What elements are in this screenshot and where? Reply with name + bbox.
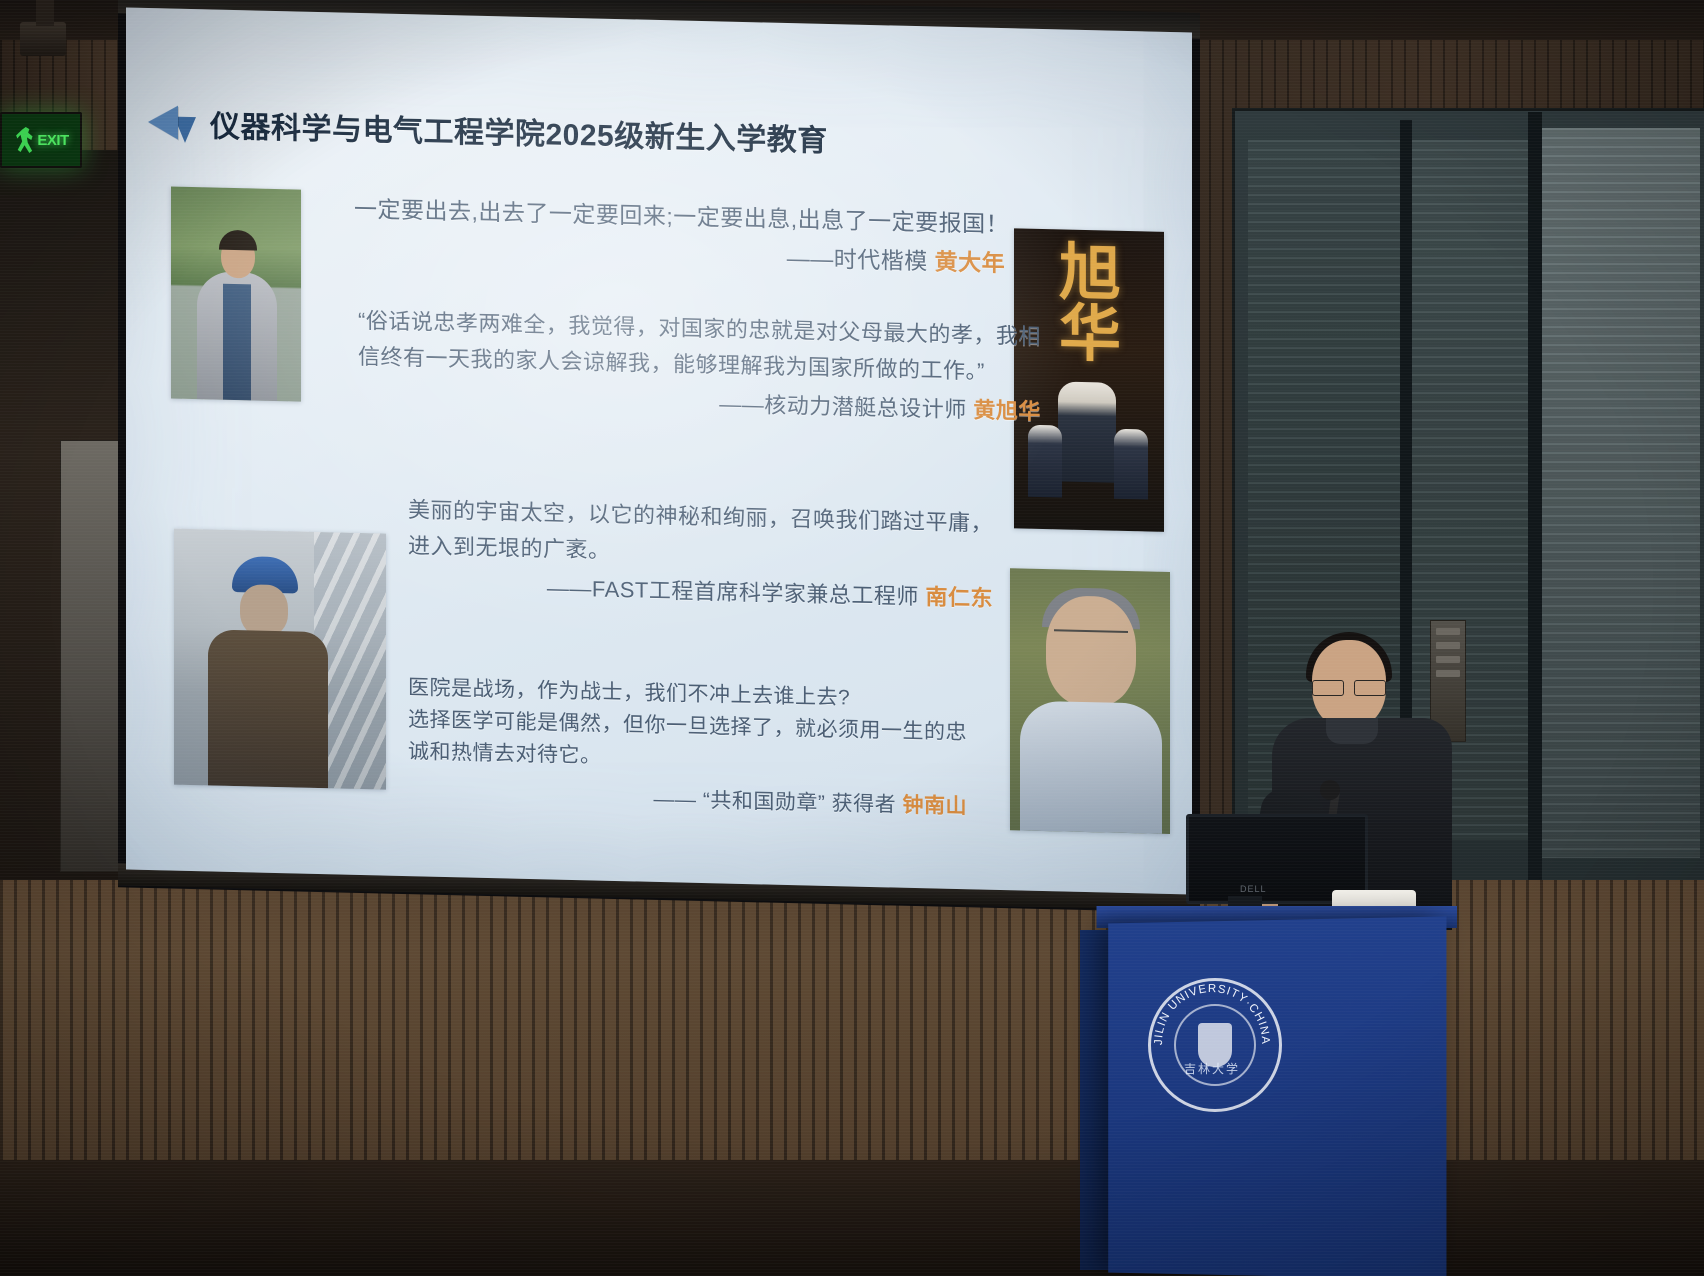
quote-attribution: —— “共和国勋章” 获得者 钟南山 [408, 778, 967, 823]
quote-line: 医院是战场，作为战士，我们不冲上去谁上去? [408, 676, 850, 709]
portrait-zhong-nanshan [1010, 568, 1170, 834]
exit-sign-label: EXIT [37, 132, 68, 149]
left-wall-panel [60, 440, 124, 872]
attribution-name: 黄旭华 [973, 398, 1041, 425]
exit-sign: EXIT [0, 112, 82, 168]
window-blind-right [1540, 128, 1700, 858]
quote-zhong-nanshan: 医院是战场，作为战士，我们不冲上去谁上去? 选择医学可能是偶然，但你一旦选择了，… [408, 672, 967, 823]
attribution-prefix: ——FAST工程首席科学家兼总工程师 [547, 576, 919, 610]
seal-cn-label: 吉林大学 [1148, 1060, 1276, 1077]
quote-nan-rendong: 美丽的宇宙太空，以它的神秘和绚丽，召唤我们踏过平庸， 进入到无垠的广袤。 ——F… [408, 492, 993, 617]
attribution-prefix: ——时代楷模 [787, 245, 928, 274]
quote-line: “俗话说忠孝两难全，我觉得，对国家的忠就是对父母最大的孝，我相 [358, 308, 1041, 349]
portrait-caption-xuhua: 旭华 [1044, 243, 1136, 395]
attribution-prefix: ——核动力潜艇总设计师 [719, 392, 967, 423]
presentation-slide: 仪器科学与电气工程学院2025级新生入学教育 旭华 一定要出去,出去了一定要回来… [126, 7, 1192, 894]
attribution-name: 钟南山 [903, 793, 968, 818]
quote-line: 美丽的宇宙太空，以它的神秘和绚丽，召唤我们踏过平庸， [408, 497, 993, 536]
seal-arc-text: JILIN UNIVERSITY·CHINA [1148, 978, 1276, 1106]
attribution-prefix: —— “共和国勋章” 获得者 [654, 788, 897, 817]
ceiling-vent-duct [36, 0, 54, 26]
presenter-collar [1326, 718, 1378, 744]
projection-screen: 仪器科学与电气工程学院2025级新生入学教育 旭华 一定要出去,出去了一定要回来… [126, 7, 1192, 894]
monitor-brand-label: DELL [1240, 884, 1267, 894]
slide-title-row: 仪器科学与电气工程学院2025级新生入学教育 [148, 100, 828, 160]
quote-line: 进入到无垠的广袤。 [408, 533, 611, 563]
ceiling-vent [20, 22, 66, 56]
quote-attribution: ——核动力潜艇总设计师 黄旭华 [358, 378, 1041, 430]
floor [0, 1160, 1704, 1276]
quote-line: 选择医学可能是偶然，但你一旦选择了，就必须用一生的忠 [408, 708, 967, 744]
window-mullion-2 [1528, 112, 1542, 932]
portrait-nan-rendong [174, 529, 386, 790]
slide-title: 仪器科学与电气工程学院2025级新生入学教育 [210, 101, 828, 160]
triangle-marker-icon [148, 105, 178, 140]
svg-text:JILIN UNIVERSITY·CHINA: JILIN UNIVERSITY·CHINA [1153, 983, 1271, 1045]
quote-line: 诚和热情去对待它。 [408, 740, 602, 768]
attribution-name: 黄大年 [935, 249, 1006, 277]
quote-line: 信终有一天我的家人会谅解我，能够理解我为国家所做的工作。” [358, 344, 985, 384]
portrait-huang-danian [171, 186, 301, 401]
running-man-icon [15, 127, 35, 153]
attribution-name: 南仁东 [926, 585, 994, 612]
quote-attribution: ——FAST工程首席科学家兼总工程师 南仁东 [408, 567, 993, 616]
quote-attribution: ——时代楷模 黄大年 [354, 230, 1009, 283]
glasses-icon [1312, 680, 1386, 694]
quote-huang-danian: 一定要出去,出去了一定要回来;一定要出息,出息了一定要报国！ ——时代楷模 黄大… [354, 191, 1009, 283]
microphone-head-icon [1320, 780, 1340, 800]
quote-line: 一定要出去,出去了一定要回来;一定要出息,出息了一定要报国！ [354, 196, 1009, 237]
quote-huang-xuhua: “俗话说忠孝两难全，我觉得，对国家的忠就是对父母最大的孝，我相 信终有一天我的家… [358, 303, 1041, 430]
lecture-hall-photo: EXIT 仪器科学与电气工程学院2025级新生入学教育 旭华 [0, 0, 1704, 1276]
